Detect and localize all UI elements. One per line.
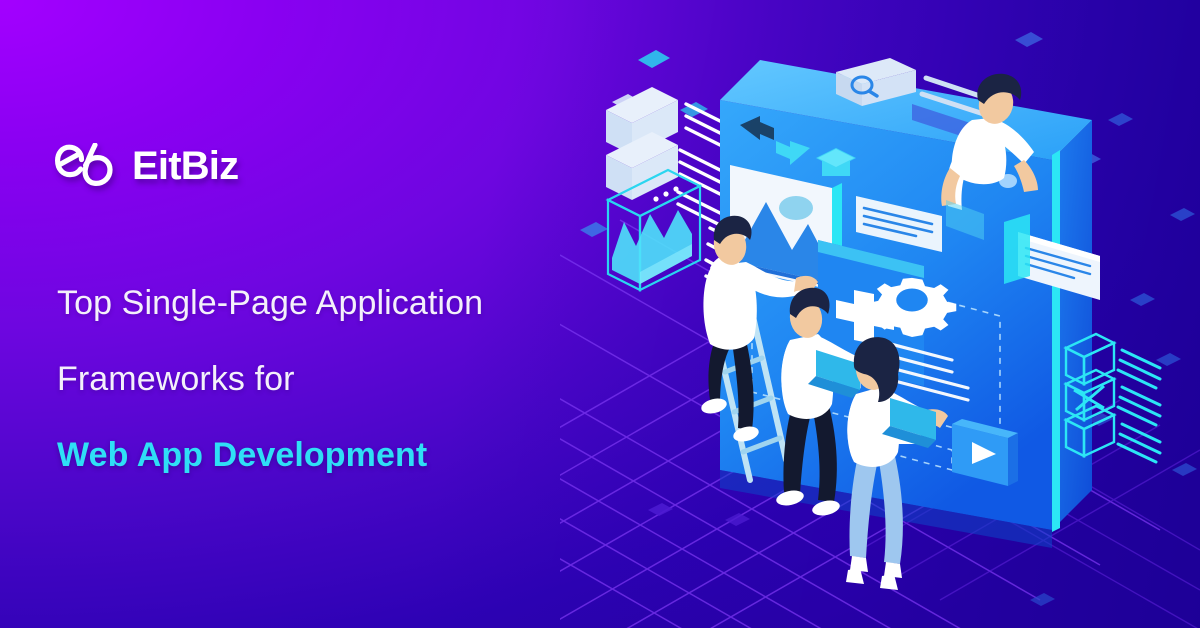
isometric-browser-window[interactable] xyxy=(720,60,1092,548)
headline-line-2: Frameworks for xyxy=(57,362,617,396)
isometric-scene-svg xyxy=(560,0,1200,628)
brand-logo[interactable]: EitBiz xyxy=(55,143,238,189)
brand-name: EitBiz xyxy=(132,146,238,186)
left-content-column: EitBiz Top Single-Page Application Frame… xyxy=(55,0,615,628)
hero-illustration xyxy=(560,0,1200,628)
headline-block: Top Single-Page Application Frameworks f… xyxy=(57,286,617,472)
eb-monogram-icon xyxy=(55,143,119,189)
promo-banner: EitBiz Top Single-Page Application Frame… xyxy=(0,0,1200,628)
headline-line-1: Top Single-Page Application xyxy=(57,286,617,320)
chart-icon xyxy=(612,210,692,284)
headline-accent-line: Web App Development xyxy=(57,438,617,472)
